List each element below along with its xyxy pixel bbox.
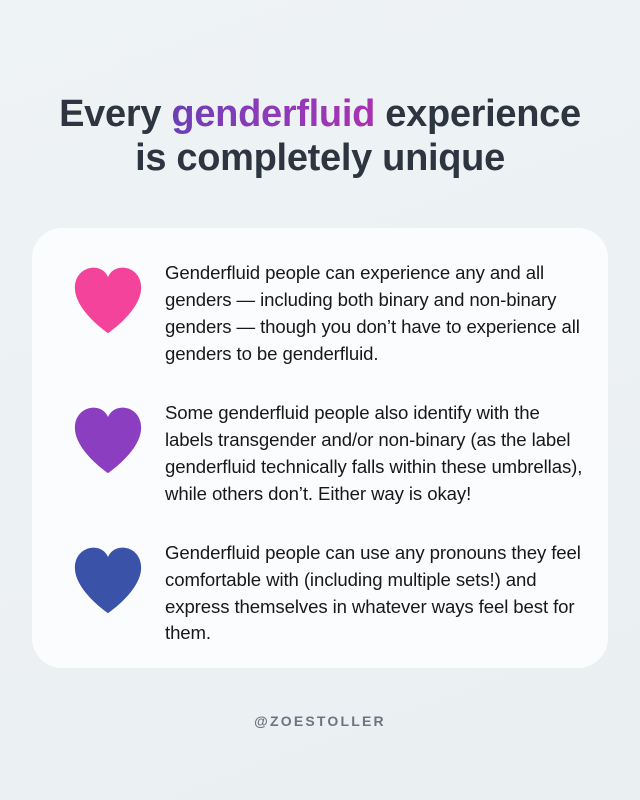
poster-canvas: Every genderfluid experience is complete… [0,0,640,800]
list-item: Genderfluid people can use any pronouns … [32,540,608,648]
heart-icon [72,406,144,474]
page-title: Every genderfluid experience is complete… [0,92,640,180]
heart-icon [72,266,144,334]
title-text-after: experience [375,93,581,135]
title-text-before: Every [59,93,171,135]
content-card: Genderfluid people can experience any an… [32,228,608,668]
list-item: Genderfluid people can experience any an… [32,260,608,368]
title-line-1: Every genderfluid experience [28,92,612,136]
card-row-list: Genderfluid people can experience any an… [32,228,608,668]
heart-icon-cell-3 [50,540,165,614]
heart-icon [72,546,144,614]
title-line-2: is completely unique [28,136,612,180]
list-item-text: Genderfluid people can experience any an… [165,260,586,368]
heart-icon-cell-2 [50,400,165,474]
list-item: Some genderfluid people also identify wi… [32,400,608,508]
heart-icon-cell-1 [50,260,165,334]
author-handle: @ZOESTOLLER [0,713,640,729]
list-item-text: Some genderfluid people also identify wi… [165,400,586,508]
list-item-text: Genderfluid people can use any pronouns … [165,540,586,648]
title-accent-word: genderfluid [171,93,375,135]
